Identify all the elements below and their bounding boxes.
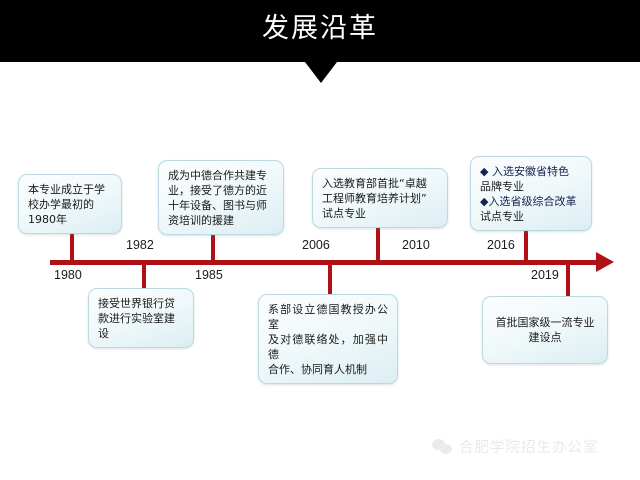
year-label-1985: 1985 bbox=[195, 268, 223, 282]
year-label-2019: 2019 bbox=[531, 268, 559, 282]
event-line: 合作、协同育人机制 bbox=[268, 362, 388, 377]
event-line: 校办学最初的 bbox=[28, 197, 112, 212]
event-line: 试点专业 bbox=[480, 209, 582, 224]
event-box-1980[interactable]: 本专业成立于学 校办学最初的 1980年 bbox=[18, 174, 122, 234]
event-line-bullet: ◆ 入选安徽省特色 bbox=[480, 164, 582, 179]
event-line: 本专业成立于学 bbox=[28, 182, 112, 197]
event-line: 设 bbox=[98, 326, 184, 341]
event-box-1985[interactable]: 成为中德合作共建专 业，接受了德方的近 十年设备、图书与师 资培训的援建 bbox=[158, 160, 284, 235]
year-label-2006: 2006 bbox=[302, 238, 330, 252]
event-line: 十年设备、图书与师 bbox=[168, 198, 274, 213]
event-box-2019[interactable]: 首批国家级一流专业 建设点 bbox=[482, 296, 608, 364]
timeline: 1980 1982 1985 2006 2010 2016 2019 本专业成立… bbox=[0, 88, 640, 418]
year-label-2016: 2016 bbox=[487, 238, 515, 252]
event-line: 接受世界银行贷 bbox=[98, 296, 184, 311]
event-line: 工程师教育培养计划” bbox=[322, 191, 438, 206]
right-arrow-icon bbox=[596, 252, 614, 272]
year-label-1982: 1982 bbox=[126, 238, 154, 252]
event-line: 款进行实验室建 bbox=[98, 311, 184, 326]
timeline-axis bbox=[50, 260, 602, 265]
event-line: 资培训的援建 bbox=[168, 213, 274, 228]
event-line: 建设点 bbox=[492, 330, 598, 345]
event-line-bullet: ◆入选省级综合改革 bbox=[480, 194, 582, 209]
event-line: 及对德联络处，加强中德 bbox=[268, 332, 388, 362]
event-box-1982[interactable]: 接受世界银行贷 款进行实验室建 设 bbox=[88, 288, 194, 348]
wechat-icon bbox=[432, 438, 453, 456]
watermark: 合肥学院招生办公室 bbox=[432, 436, 599, 457]
event-line: 1980年 bbox=[28, 212, 112, 227]
event-box-2010[interactable]: 入选教育部首批“卓越 工程师教育培养计划” 试点专业 bbox=[312, 168, 448, 228]
event-line: 业，接受了德方的近 bbox=[168, 183, 274, 198]
event-line: 入选教育部首批“卓越 bbox=[322, 176, 438, 191]
event-line: 试点专业 bbox=[322, 206, 438, 221]
event-line: 系部设立德国教授办公室 bbox=[268, 302, 388, 332]
event-line: 成为中德合作共建专 bbox=[168, 168, 274, 183]
watermark-text: 合肥学院招生办公室 bbox=[459, 436, 599, 457]
down-triangle-icon bbox=[305, 62, 337, 83]
event-line: 品牌专业 bbox=[480, 179, 582, 194]
event-box-2016[interactable]: ◆ 入选安徽省特色 品牌专业 ◆入选省级综合改革 试点专业 bbox=[470, 156, 592, 231]
event-line: 首批国家级一流专业 bbox=[492, 315, 598, 330]
page-title: 发展沿革 bbox=[0, 10, 640, 48]
year-label-2010: 2010 bbox=[402, 238, 430, 252]
year-label-1980: 1980 bbox=[54, 268, 82, 282]
event-box-2006[interactable]: 系部设立德国教授办公室 及对德联络处，加强中德 合作、协同育人机制 bbox=[258, 294, 398, 384]
